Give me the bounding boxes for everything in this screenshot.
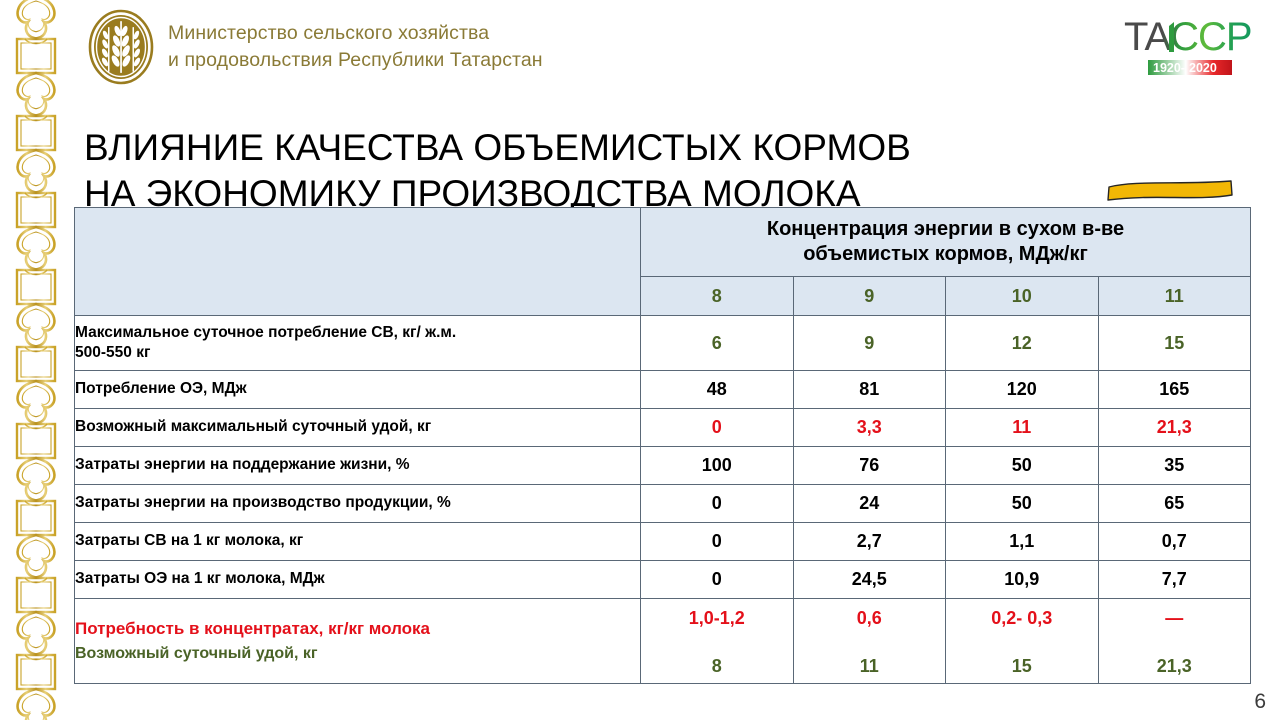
table-row: Затраты СВ на 1 кг молока, кг 0 2,7 1,1 … xyxy=(75,523,1251,561)
tassr-100-logo-icon: TACCP 1920- 2020 xyxy=(1122,8,1258,80)
ornamental-border xyxy=(8,0,64,720)
table-cell-summary: 0,6 11 xyxy=(793,599,946,684)
summary-cell-daily-yield: 21,3 xyxy=(1099,656,1251,677)
column-header-9: 9 xyxy=(793,277,946,316)
table-cell: 21,3 xyxy=(1098,409,1251,447)
table-cell: 50 xyxy=(946,485,1099,523)
table-cell: 9 xyxy=(793,316,946,371)
column-header-11: 11 xyxy=(1098,277,1251,316)
table-header-row-group: Концентрация энергии в сухом в-ве объеми… xyxy=(75,208,1251,277)
row-label: Максимальное суточное потребление СВ, кг… xyxy=(75,316,641,371)
svg-text:TACCP: TACCP xyxy=(1124,15,1252,59)
row-label: Затраты СВ на 1 кг молока, кг xyxy=(75,523,641,561)
summary-label-daily-yield: Возможный суточный удой, кг xyxy=(75,643,640,665)
table-cell: 2,7 xyxy=(793,523,946,561)
table-cell-summary: 1,0-1,2 8 xyxy=(641,599,794,684)
table-cell: 0 xyxy=(641,485,794,523)
table-row: Затраты энергии на производство продукци… xyxy=(75,485,1251,523)
column-header-10: 10 xyxy=(946,277,1099,316)
row-label: Затраты энергии на производство продукци… xyxy=(75,485,641,523)
table-cell: 0 xyxy=(641,561,794,599)
table-cell: 0 xyxy=(641,409,794,447)
table-cell: 81 xyxy=(793,371,946,409)
summary-cell-concentrates: 1,0-1,2 xyxy=(641,608,793,629)
table-cell-summary: — 21,3 xyxy=(1098,599,1251,684)
summary-cell-daily-yield: 11 xyxy=(794,656,946,677)
table-cell: 65 xyxy=(1098,485,1251,523)
row-label: Возможный максимальный суточный удой, кг xyxy=(75,409,641,447)
table-cell: 24 xyxy=(793,485,946,523)
table-cell: 120 xyxy=(946,371,1099,409)
table-cell: 48 xyxy=(641,371,794,409)
svg-text:2020: 2020 xyxy=(1189,61,1217,75)
summary-label-concentrates: Потребность в концентратах, кг/кг молока xyxy=(75,618,640,641)
yellow-brush-accent xyxy=(1106,178,1234,204)
table-row: Возможный максимальный суточный удой, кг… xyxy=(75,409,1251,447)
header-corner-blank xyxy=(75,208,641,316)
table-cell: 7,7 xyxy=(1098,561,1251,599)
table-cell: 0 xyxy=(641,523,794,561)
table-cell: 0,7 xyxy=(1098,523,1251,561)
table-cell: 165 xyxy=(1098,371,1251,409)
table-cell-summary: 0,2- 0,3 15 xyxy=(946,599,1099,684)
table-cell: 10,9 xyxy=(946,561,1099,599)
table-cell: 6 xyxy=(641,316,794,371)
table-cell: 100 xyxy=(641,447,794,485)
table-cell: 50 xyxy=(946,447,1099,485)
table-cell: 15 xyxy=(1098,316,1251,371)
feed-quality-economics-table: Концентрация энергии в сухом в-ве объеми… xyxy=(74,207,1251,684)
table-row: Потребление ОЭ, МДж 48 81 120 165 xyxy=(75,371,1251,409)
row-label: Потребление ОЭ, МДж xyxy=(75,371,641,409)
table-row-summary: Потребность в концентратах, кг/кг молока… xyxy=(75,599,1251,684)
table-row: Затраты энергии на поддержание жизни, % … xyxy=(75,447,1251,485)
svg-text:1920-: 1920- xyxy=(1153,61,1185,75)
table-cell: 1,1 xyxy=(946,523,1099,561)
page-number: 6 xyxy=(1254,690,1266,714)
table-cell: 3,3 xyxy=(793,409,946,447)
table-cell: 35 xyxy=(1098,447,1251,485)
row-label-summary: Потребность в концентратах, кг/кг молока… xyxy=(75,599,641,684)
summary-cell-concentrates: 0,6 xyxy=(794,608,946,629)
table-cell: 76 xyxy=(793,447,946,485)
summary-cell-concentrates: — xyxy=(1099,608,1251,629)
table-cell: 24,5 xyxy=(793,561,946,599)
row-label: Затраты энергии на поддержание жизни, % xyxy=(75,447,641,485)
summary-cell-concentrates: 0,2- 0,3 xyxy=(946,608,1098,629)
table-row: Затраты ОЭ на 1 кг молока, МДж 0 24,5 10… xyxy=(75,561,1251,599)
table-cell: 12 xyxy=(946,316,1099,371)
ministry-name: Министерство сельского хозяйства и продо… xyxy=(168,20,543,74)
summary-cell-daily-yield: 15 xyxy=(946,656,1098,677)
table-cell: 11 xyxy=(946,409,1099,447)
wheat-emblem-icon xyxy=(88,9,154,85)
header-energy-concentration: Концентрация энергии в сухом в-ве объеми… xyxy=(641,208,1251,277)
summary-cell-daily-yield: 8 xyxy=(641,656,793,677)
slide-header: Министерство сельского хозяйства и продо… xyxy=(88,6,708,88)
table-row: Максимальное суточное потребление СВ, кг… xyxy=(75,316,1251,371)
page-title: ВЛИЯНИЕ КАЧЕСТВА ОБЪЕМИСТЫХ КОРМОВ НА ЭК… xyxy=(84,125,1114,217)
column-header-8: 8 xyxy=(641,277,794,316)
row-label: Затраты ОЭ на 1 кг молока, МДж xyxy=(75,561,641,599)
